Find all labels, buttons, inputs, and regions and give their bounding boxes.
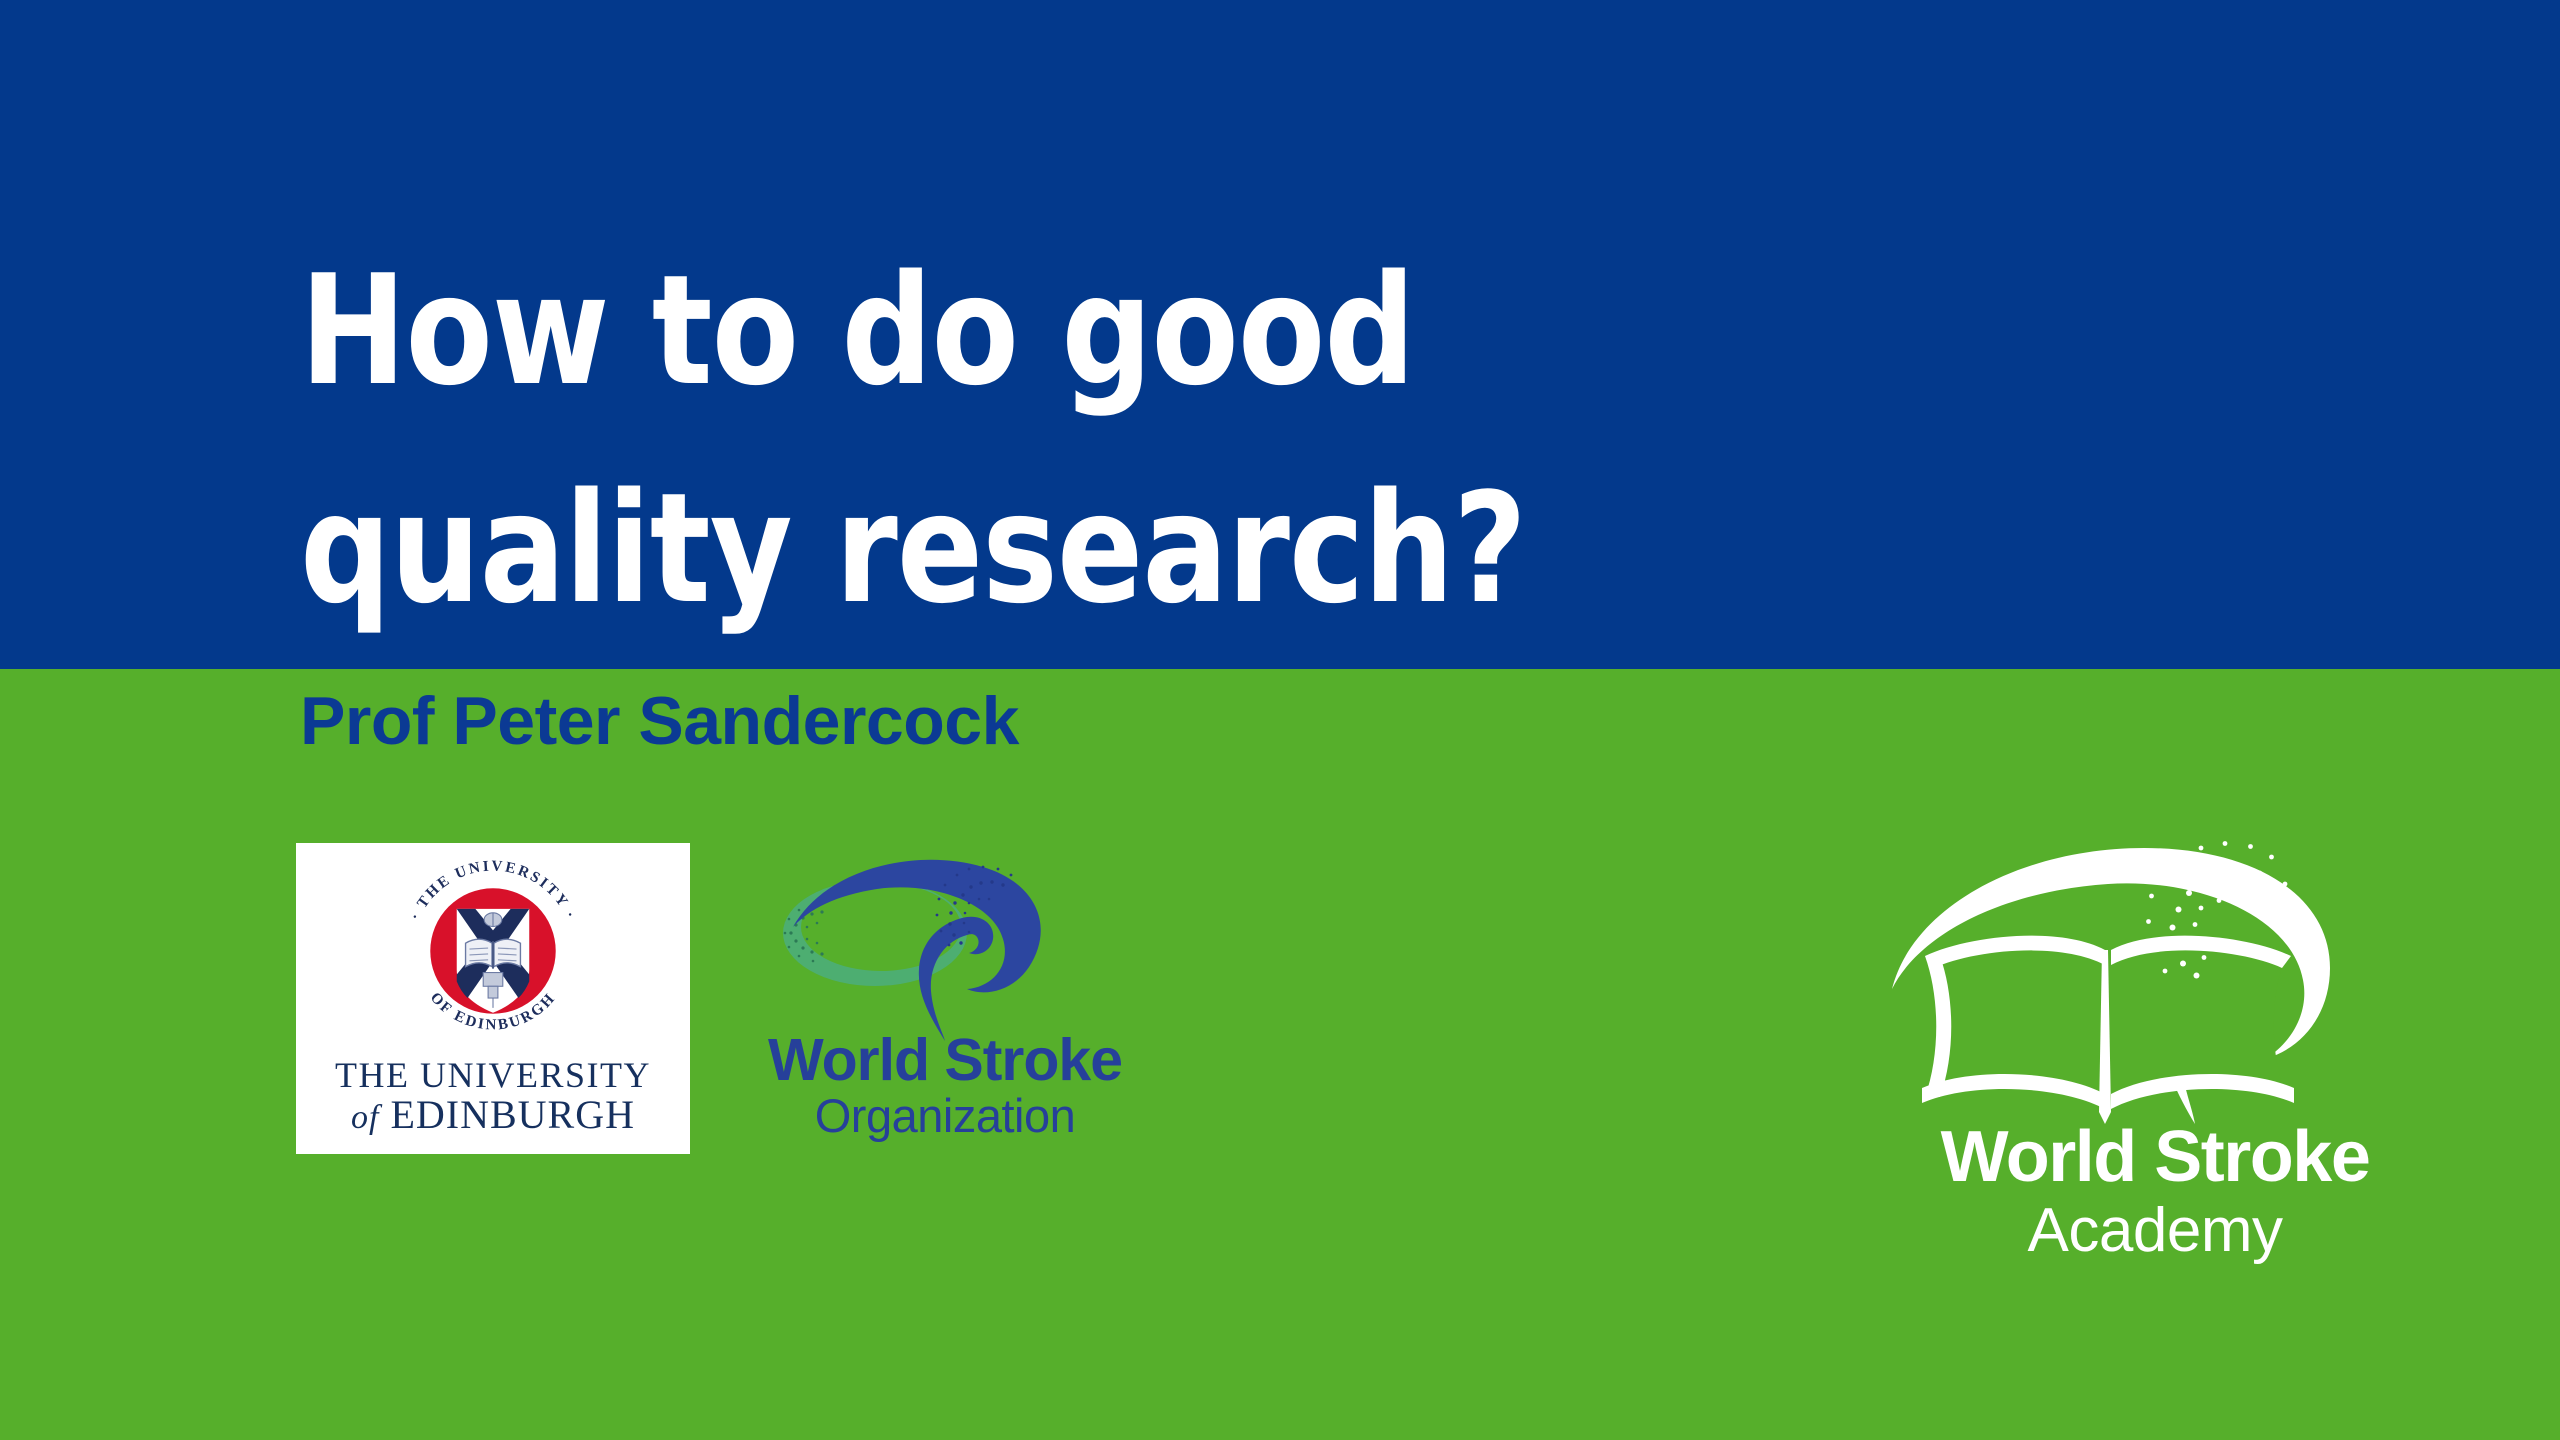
edinburgh-wordmark-line-2: of EDINBURGH — [335, 1094, 651, 1136]
wso-wordmark-line-2: Organization — [745, 1090, 1145, 1143]
edinburgh-wordmark-of: of — [351, 1099, 379, 1136]
wso-wordmark-line-1: World Stroke — [745, 1030, 1145, 1090]
wso-wordmark: World Stroke Organization — [745, 1030, 1145, 1143]
edinburgh-wordmark-line-1: THE UNIVERSITY — [335, 1056, 651, 1094]
presenter-name: Prof Peter Sandercock — [300, 680, 1019, 762]
world-stroke-organization-logo: World Stroke Organization — [745, 855, 1145, 1155]
edinburgh-crest-icon: · THE UNIVERSITY · OF EDINBURGH — [395, 853, 591, 1054]
university-of-edinburgh-logo: · THE UNIVERSITY · OF EDINBURGH — [296, 843, 690, 1154]
presentation-title-slide: How to do good quality research? Prof Pe… — [0, 0, 2560, 1440]
title-line-1: How to do good — [300, 222, 2067, 440]
world-stroke-academy-logo: World Stroke Academy — [1870, 830, 2440, 1330]
wsa-open-book-swoosh-icon — [1880, 830, 2420, 1135]
wsa-wordmark: World Stroke Academy — [1870, 1120, 2440, 1267]
wso-brain-swoosh-icon — [755, 855, 1085, 1050]
edinburgh-wordmark: THE UNIVERSITY of EDINBURGH — [335, 1056, 651, 1137]
edinburgh-wordmark-edinburgh: EDINBURGH — [390, 1092, 635, 1137]
page-title: How to do good quality research? — [300, 222, 2200, 658]
wsa-wordmark-line-1: World Stroke — [1870, 1120, 2440, 1194]
wsa-wordmark-line-2: Academy — [1870, 1194, 2440, 1267]
title-line-2: quality research? — [300, 440, 2067, 658]
